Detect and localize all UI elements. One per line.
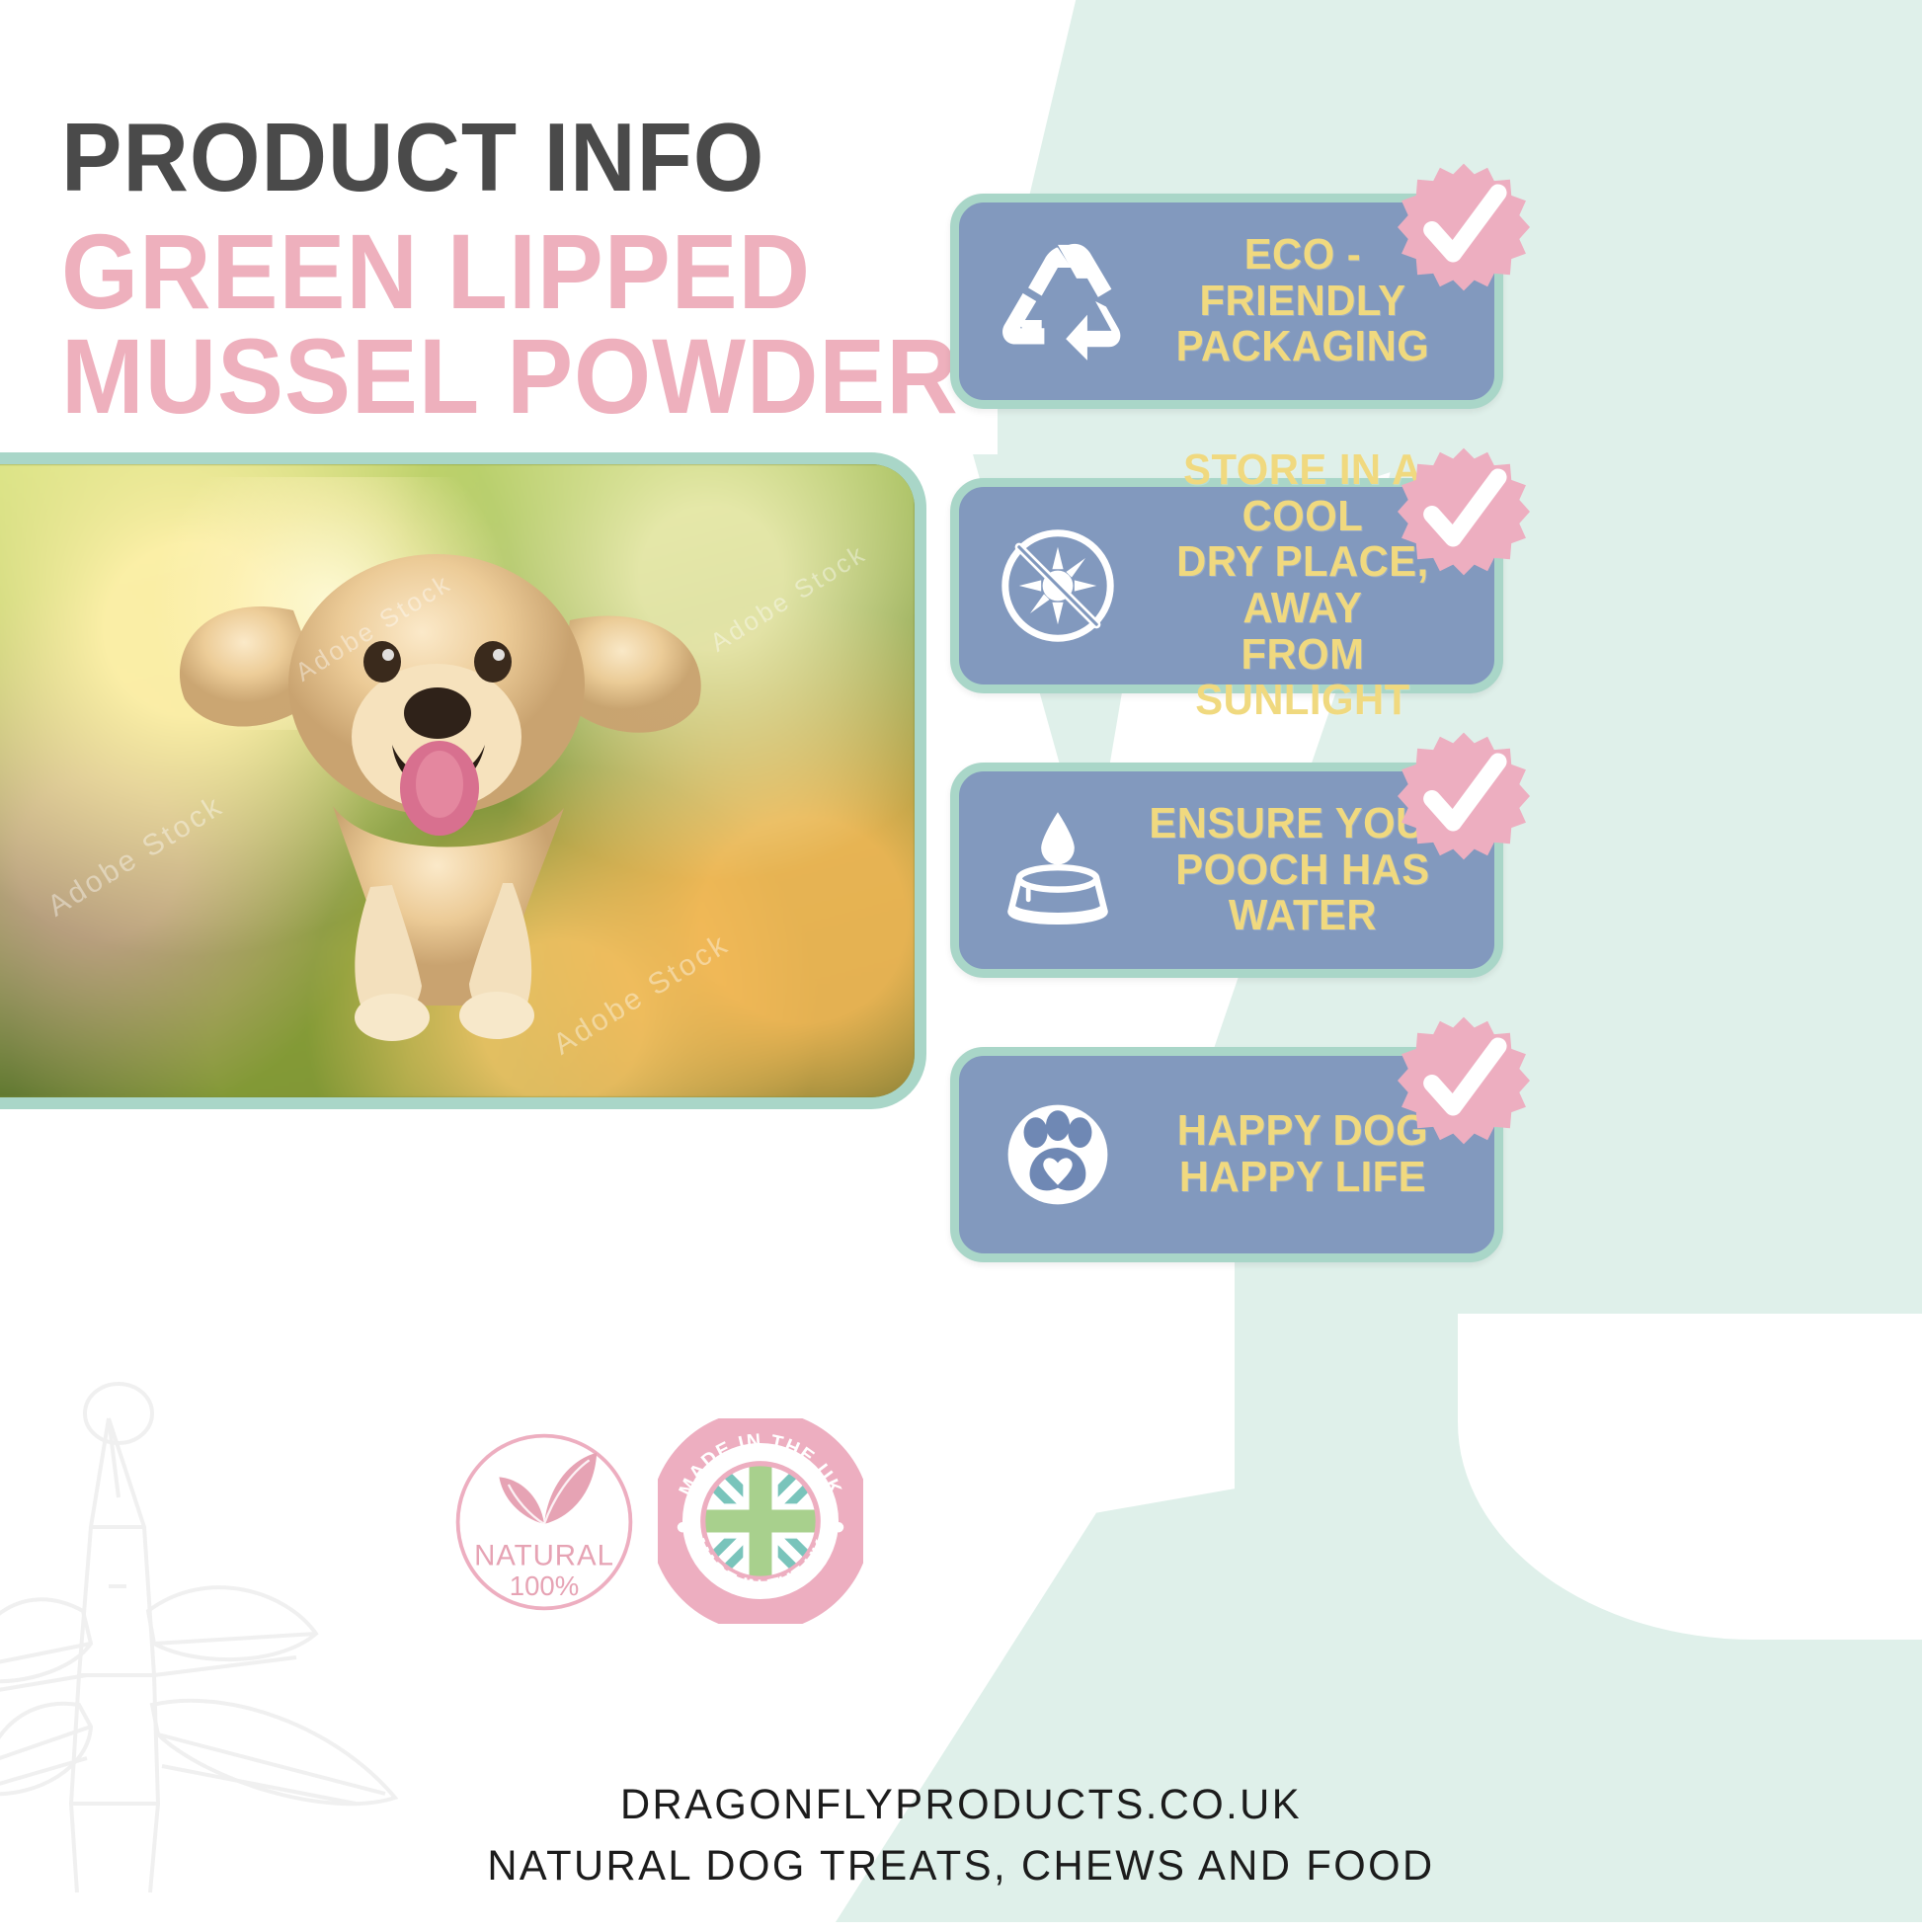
footer-website[interactable]: DRAGONFLYPRODUCTS.CO.UK [29,1774,1893,1835]
check-mark-icon [1398,161,1530,293]
seal-made-in-uk: MADE IN THE UK MADE IN THE UK [658,1418,863,1624]
feature-line: WATER [1145,893,1460,939]
page-eyebrow-title: PRODUCT INFO [61,109,968,205]
header: PRODUCT INFO GREEN LIPPED MUSSEL POWDER [61,109,1026,429]
paw-heart-icon [985,1082,1131,1228]
feature-card-happy-dog-happy-life[interactable]: HAPPY DOG HAPPY LIFE [950,1047,1503,1262]
seal-natural-value: 100% [510,1570,579,1601]
feature-card-store-cool-dry[interactable]: STORE IN A COOL DRY PLACE, AWAY FROM SUN… [950,478,1503,693]
footer: DRAGONFLYPRODUCTS.CO.UK NATURAL DOG TREA… [0,1774,1922,1897]
page-title-line-1: GREEN LIPPED [61,211,811,331]
check-mark-icon [1398,445,1530,578]
seal-natural-100: NATURAL 100% [450,1428,638,1616]
feature-card-list: ECO - FRIENDLY PACKAGING [950,194,1503,1331]
feature-line: FROM SUNLIGHT [1145,632,1460,724]
page-title: GREEN LIPPED MUSSEL POWDER [61,219,959,429]
feature-card-eco-friendly-packaging[interactable]: ECO - FRIENDLY PACKAGING [950,194,1503,409]
water-bowl-icon [985,797,1131,943]
recycle-icon [985,228,1131,374]
footer-tagline: NATURAL DOG TREATS, CHEWS AND FOOD [29,1835,1893,1896]
feature-card-ensure-water[interactable]: ENSURE YOUR POOCH HAS WATER [950,763,1503,978]
feature-line: HAPPY LIFE [1145,1155,1460,1201]
feature-line: PACKAGING [1145,324,1460,370]
no-sunlight-icon [985,513,1131,659]
product-hero-photo: Adobe Stock Adobe Stock Adobe Stock Adob… [0,452,926,1109]
check-mark-icon [1398,730,1530,862]
seal-natural-label: NATURAL [474,1540,614,1572]
puppy-illustration [145,492,758,1045]
page-title-line-2: MUSSEL POWDER [61,324,959,429]
check-mark-icon [1398,1014,1530,1147]
